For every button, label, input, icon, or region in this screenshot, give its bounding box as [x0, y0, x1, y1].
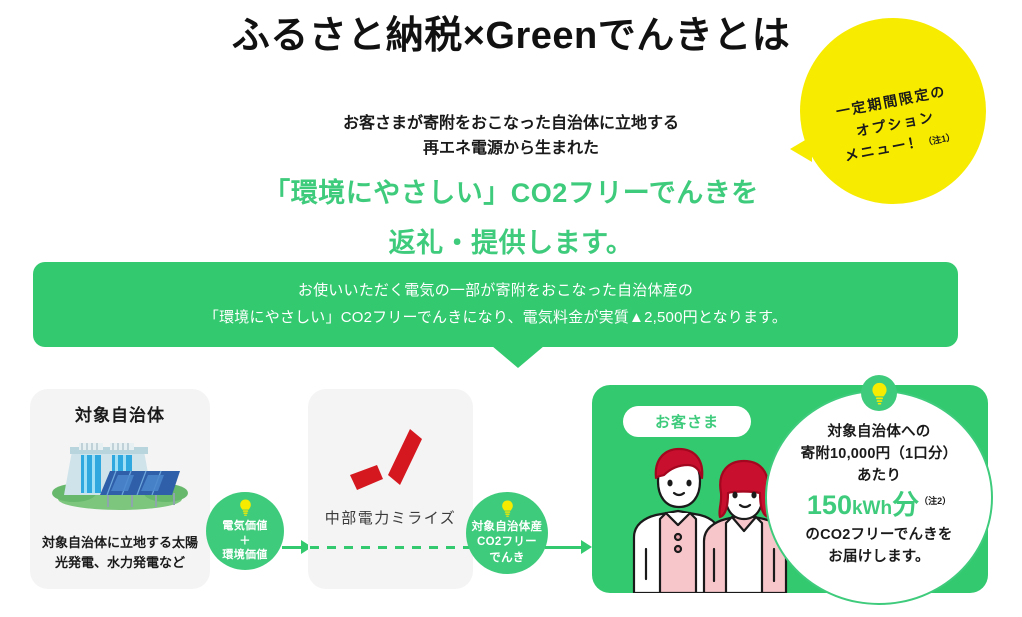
lightbulb-icon	[501, 500, 514, 517]
green-banner-text: お使いいただく電気の一部が寄附をおこなった自治体産の 「環境にやさしい」CO2フ…	[204, 278, 787, 331]
result-line-6: お届けします。	[828, 547, 929, 569]
circle-co2-line-3: でんき	[489, 551, 524, 567]
circle-co2-free-electricity: 対象自治体産 CO2フリー でんき	[466, 492, 548, 574]
card-municipality-caption: 対象自治体に立地する太陽光発電、水力発電など	[42, 533, 198, 572]
result-amount: 150kWh分（注2）	[807, 489, 951, 523]
customer-pill-label: お客さま	[623, 406, 751, 437]
result-line-5: のCO2フリーでんきを	[805, 525, 952, 547]
result-amount-suffix: 分	[892, 490, 919, 520]
circle-value-line-3: 環境価値	[222, 548, 267, 563]
dam-and-solar-panels-icon	[48, 433, 192, 511]
infographic-stage: ふるさと納税×Greenでんきとは 一定期間限定の オプション メニュー！（注1…	[0, 0, 1022, 617]
lead-big-line-1: 「環境にやさしい」CO2フリーでんきを	[0, 174, 1022, 212]
circle-co2-line-1: 対象自治体産	[472, 520, 543, 536]
lightbulb-icon	[239, 499, 252, 516]
flow-dashed-connector	[310, 546, 470, 549]
circle-value-line-1: 電気価値	[222, 519, 267, 534]
lead-small-line-2: 再エネ電源から生まれた	[0, 137, 1022, 162]
card-municipality: 対象自治体	[30, 389, 210, 589]
result-line-3: あたり	[857, 466, 901, 488]
result-amount-unit: kWh	[852, 498, 892, 519]
result-line-1: 対象自治体への	[828, 422, 931, 444]
card-chubu-electric-miraiz: 中部電力ミライズ	[308, 389, 473, 589]
arrow-shaft	[282, 546, 302, 549]
green-banner-line-1: お使いいただく電気の一部が寄附をおこなった自治体産の	[204, 278, 787, 304]
result-bulb-badge	[861, 375, 897, 411]
result-amount-note: （注2）	[919, 496, 951, 506]
miraiz-label: 中部電力ミライズ	[308, 507, 473, 528]
lead-big-line-2: 返礼・提供します。	[0, 224, 1022, 262]
circle-co2-line-2: CO2フリー	[477, 535, 537, 551]
green-banner: お使いいただく電気の一部が寄附をおこなった自治体産の 「環境にやさしい」CO2フ…	[33, 262, 958, 347]
result-amount-value: 150	[807, 490, 852, 520]
result-circle: 対象自治体への 寄附10,000円（1口分） あたり 150kWh分（注2） の…	[765, 390, 993, 605]
card-municipality-title: 対象自治体	[30, 401, 210, 426]
lead-copy: お客さまが寄附をおこなった自治体に立地する 再エネ電源から生まれた 「環境にやさ…	[0, 112, 1022, 262]
lead-small-line-1: お客さまが寄附をおこなった自治体に立地する	[0, 112, 1022, 137]
arrow-shaft	[545, 546, 582, 549]
banner-down-arrow-icon	[492, 346, 544, 368]
circle-electricity-environment-value: 電気価値 ＋ 環境価値	[206, 492, 284, 570]
circle-value-line-2: ＋	[239, 534, 250, 549]
green-banner-line-2: 「環境にやさしい」CO2フリーでんきになり、電気料金が実質▲2,500円となりま…	[204, 305, 787, 331]
result-line-2: 寄附10,000円（1口分）	[801, 444, 958, 466]
lightbulb-icon	[871, 382, 888, 405]
chubu-electric-miraiz-logo-icon	[344, 425, 436, 503]
arrow-head	[581, 540, 592, 554]
